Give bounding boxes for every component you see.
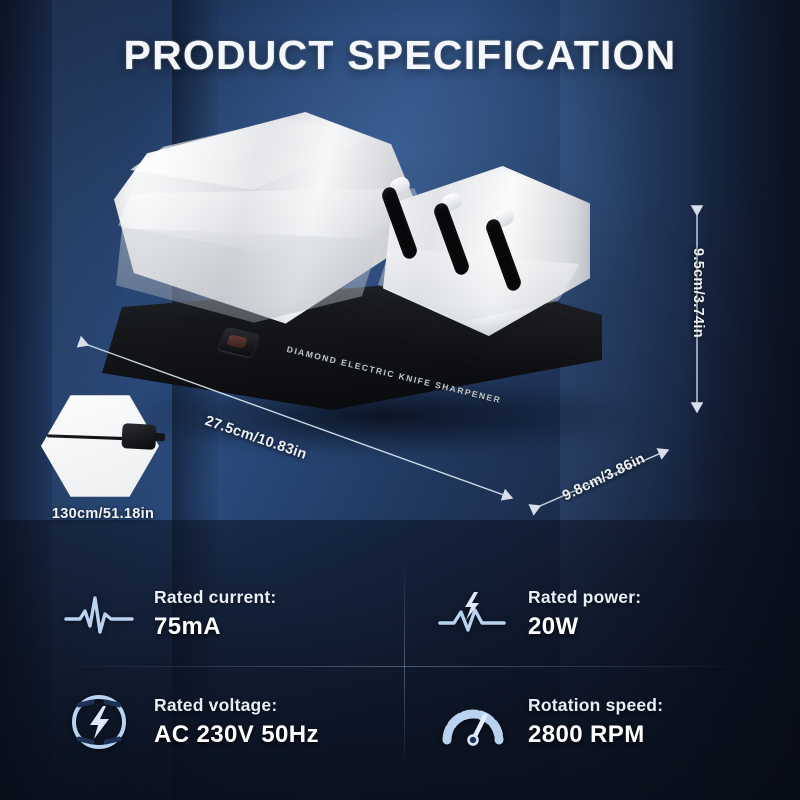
page-title: PRODUCT SPECIFICATION xyxy=(0,32,800,79)
spec-value: 2800 RPM xyxy=(528,721,663,749)
spec-label: Rated voltage: xyxy=(154,695,319,716)
spec-item-rated-power: Rated power: 20W xyxy=(436,566,766,662)
spec-item-rated-current: Rated current: 75mA xyxy=(62,566,392,662)
dimension-height-label: 9.5cm/3.74in xyxy=(690,248,706,338)
speedometer-gauge-icon xyxy=(436,690,510,754)
power-cord-plug xyxy=(121,423,156,450)
cord-length-label: 130cm/51.18in xyxy=(18,506,188,522)
spec-item-rotation-speed: Rotation speed: 2800 RPM xyxy=(436,674,766,770)
spec-value: AC 230V 50Hz xyxy=(154,721,319,749)
spec-value: 20W xyxy=(528,613,641,641)
spec-item-rated-voltage: Rated voltage: AC 230V 50Hz xyxy=(62,674,392,770)
spec-label: Rotation speed: xyxy=(528,695,663,716)
spec-text: Rated power: 20W xyxy=(528,587,641,641)
spec-value: 75mA xyxy=(154,613,276,641)
product-image: DIAMOND ELECTRIC KNIFE SHARPENER xyxy=(92,108,652,458)
lightning-waveform-icon xyxy=(436,582,510,646)
spec-label: Rated power: xyxy=(528,587,641,608)
spec-text: Rated voltage: AC 230V 50Hz xyxy=(154,695,319,749)
spec-label: Rated current: xyxy=(154,587,276,608)
spec-text: Rotation speed: 2800 RPM xyxy=(528,695,663,749)
pulse-waveform-icon xyxy=(62,582,136,646)
circular-bolt-icon xyxy=(62,690,136,754)
grid-divider-horizontal xyxy=(54,666,754,667)
spec-text: Rated current: 75mA xyxy=(154,587,276,641)
specification-grid: Rated current: 75mA Rated power: 20W xyxy=(48,556,760,776)
product-specification-page: PRODUCT SPECIFICATION DIAMOND ELECTRIC K… xyxy=(0,0,800,800)
